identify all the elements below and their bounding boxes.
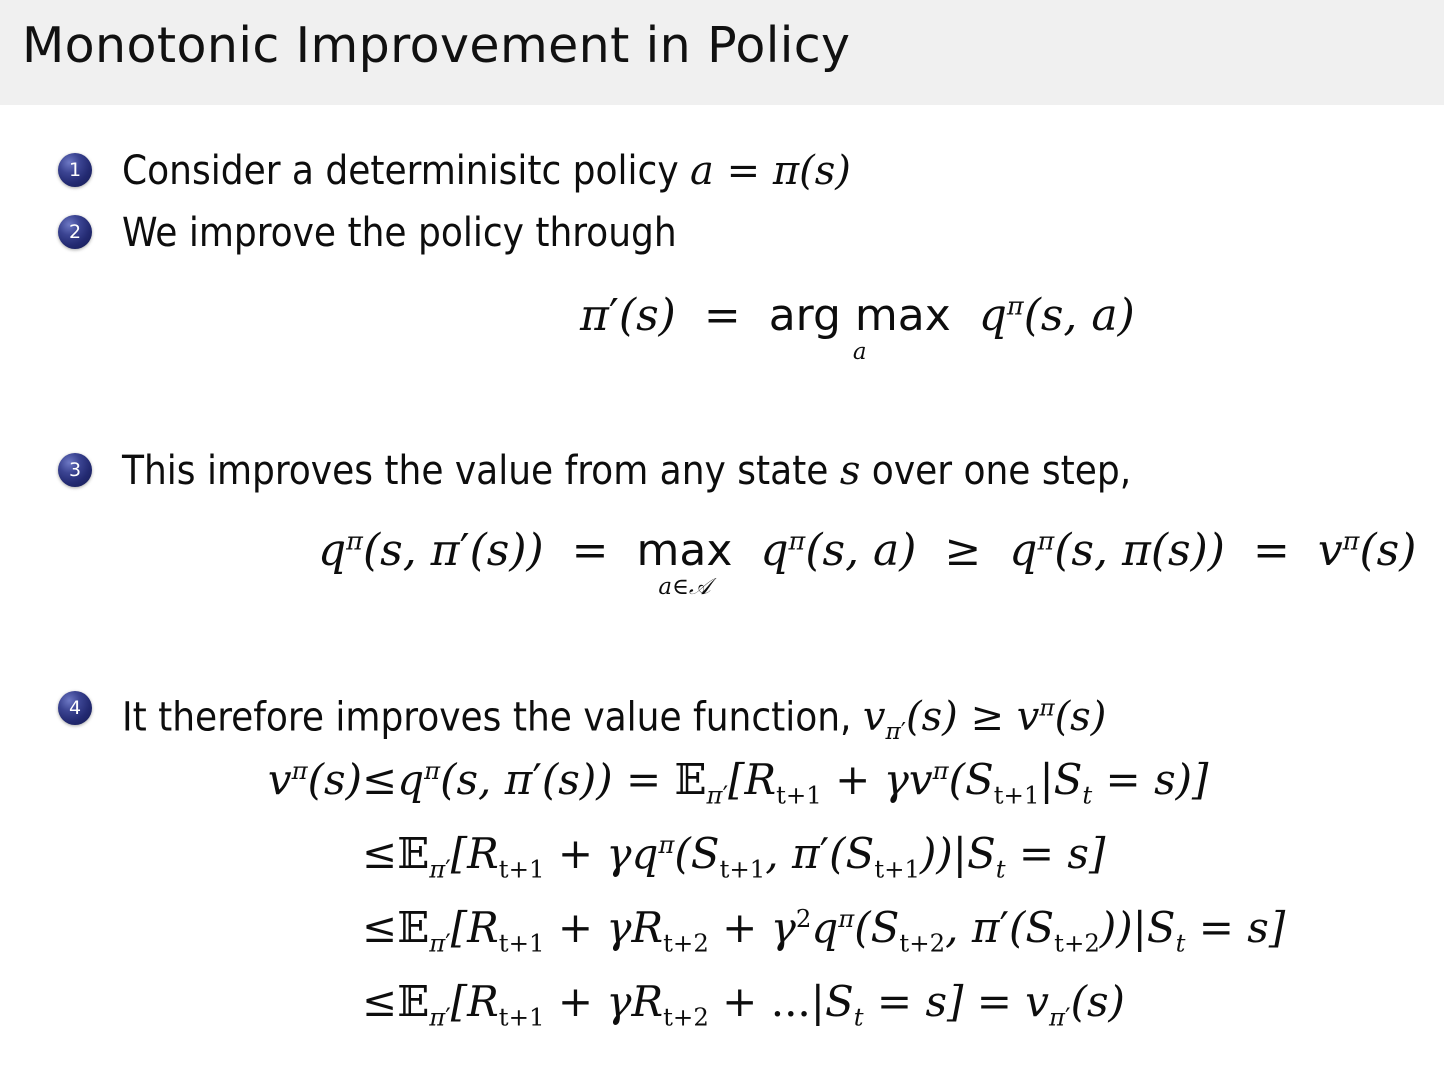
bullet-text-4: It therefore improves the value function… [122,683,1106,758]
list-item: 3 This improves the value from any state… [58,445,1131,497]
slide-header-bar: Monotonic Improvement in Policy [0,0,1444,105]
list-item: 4 It therefore improves the value functi… [58,683,1106,758]
bullet-label-3b: over one step, [860,448,1131,494]
derivation-line-3: ≤𝔼π′[Rt+1 + γRt+2 + γ2qπ(St+2, π′(St+2))… [0,903,1444,977]
bullet-text-1: Consider a determinisitc policy a = π(s) [122,145,851,197]
bullet-marker-1: 1 [58,153,92,187]
max-limit: a∈𝒜 [658,575,710,599]
derivation-line-4-rhs: ≤𝔼π′[Rt+1 + γRt+2 + ...|St = s] = vπ′(s) [362,977,1125,1031]
arg-max-limit: a [853,340,867,364]
bullet-marker-4: 4 [58,691,92,725]
bullet-text-3: This improves the value from any state s… [122,445,1131,497]
equation-derivation-block: vπ(s) ≤qπ(s, π′(s)) = 𝔼π′[Rt+1 + γvπ(St+… [0,755,1444,1051]
arg-max-operator: arg max [769,294,951,338]
derivation-line-2-rhs: ≤𝔼π′[Rt+1 + γqπ(St+1, π′(St+1))|St = s] [362,829,1105,883]
derivation-line-3-rhs: ≤𝔼π′[Rt+1 + γRt+2 + γ2qπ(St+2, π′(St+2))… [362,903,1285,957]
list-item: 1 Consider a determinisitc policy a = π(… [58,145,851,197]
bullet-text-2: We improve the policy through [122,207,677,259]
bullet-label-4: It therefore improves the value function… [122,694,863,740]
page-title: Monotonic Improvement in Policy [22,17,850,74]
bullet-label-3a: This improves the value from any state [122,448,840,494]
inline-math-1: a = π(s) [690,148,851,194]
bullet-marker-2: 2 [58,215,92,249]
inline-math-4: vπ′(s) ≥ vπ(s) [863,694,1106,740]
derivation-line-1-rhs: ≤qπ(s, π′(s)) = 𝔼π′[Rt+1 + γvπ(St+1|St =… [362,755,1208,809]
bullet-marker-3: 3 [58,453,92,487]
derivation-line-4: ≤𝔼π′[Rt+1 + γRt+2 + ...|St = s] = vπ′(s) [0,977,1444,1051]
derivation-line-2: ≤𝔼π′[Rt+1 + γqπ(St+1, π′(St+1))|St = s] [0,829,1444,903]
list-item: 2 We improve the policy through [58,207,677,259]
equation-one-step-improvement: qπ(s, π′(s)) = max a∈𝒜 qπ(s, a) ≥ qπ(s, … [318,525,1416,599]
equation-policy-improvement: π′(s) = arg max a qπ(s, a) [580,290,1135,364]
derivation-line-1: vπ(s) ≤qπ(s, π′(s)) = 𝔼π′[Rt+1 + γvπ(St+… [0,755,1444,829]
derivation-line-1-lhs: vπ(s) [268,755,362,804]
inline-math-3: s [840,448,861,494]
bullet-label-1: Consider a determinisitc policy [122,148,690,194]
slide-body: 1 Consider a determinisitc policy a = π(… [0,105,1444,1080]
max-operator: max [637,529,733,573]
